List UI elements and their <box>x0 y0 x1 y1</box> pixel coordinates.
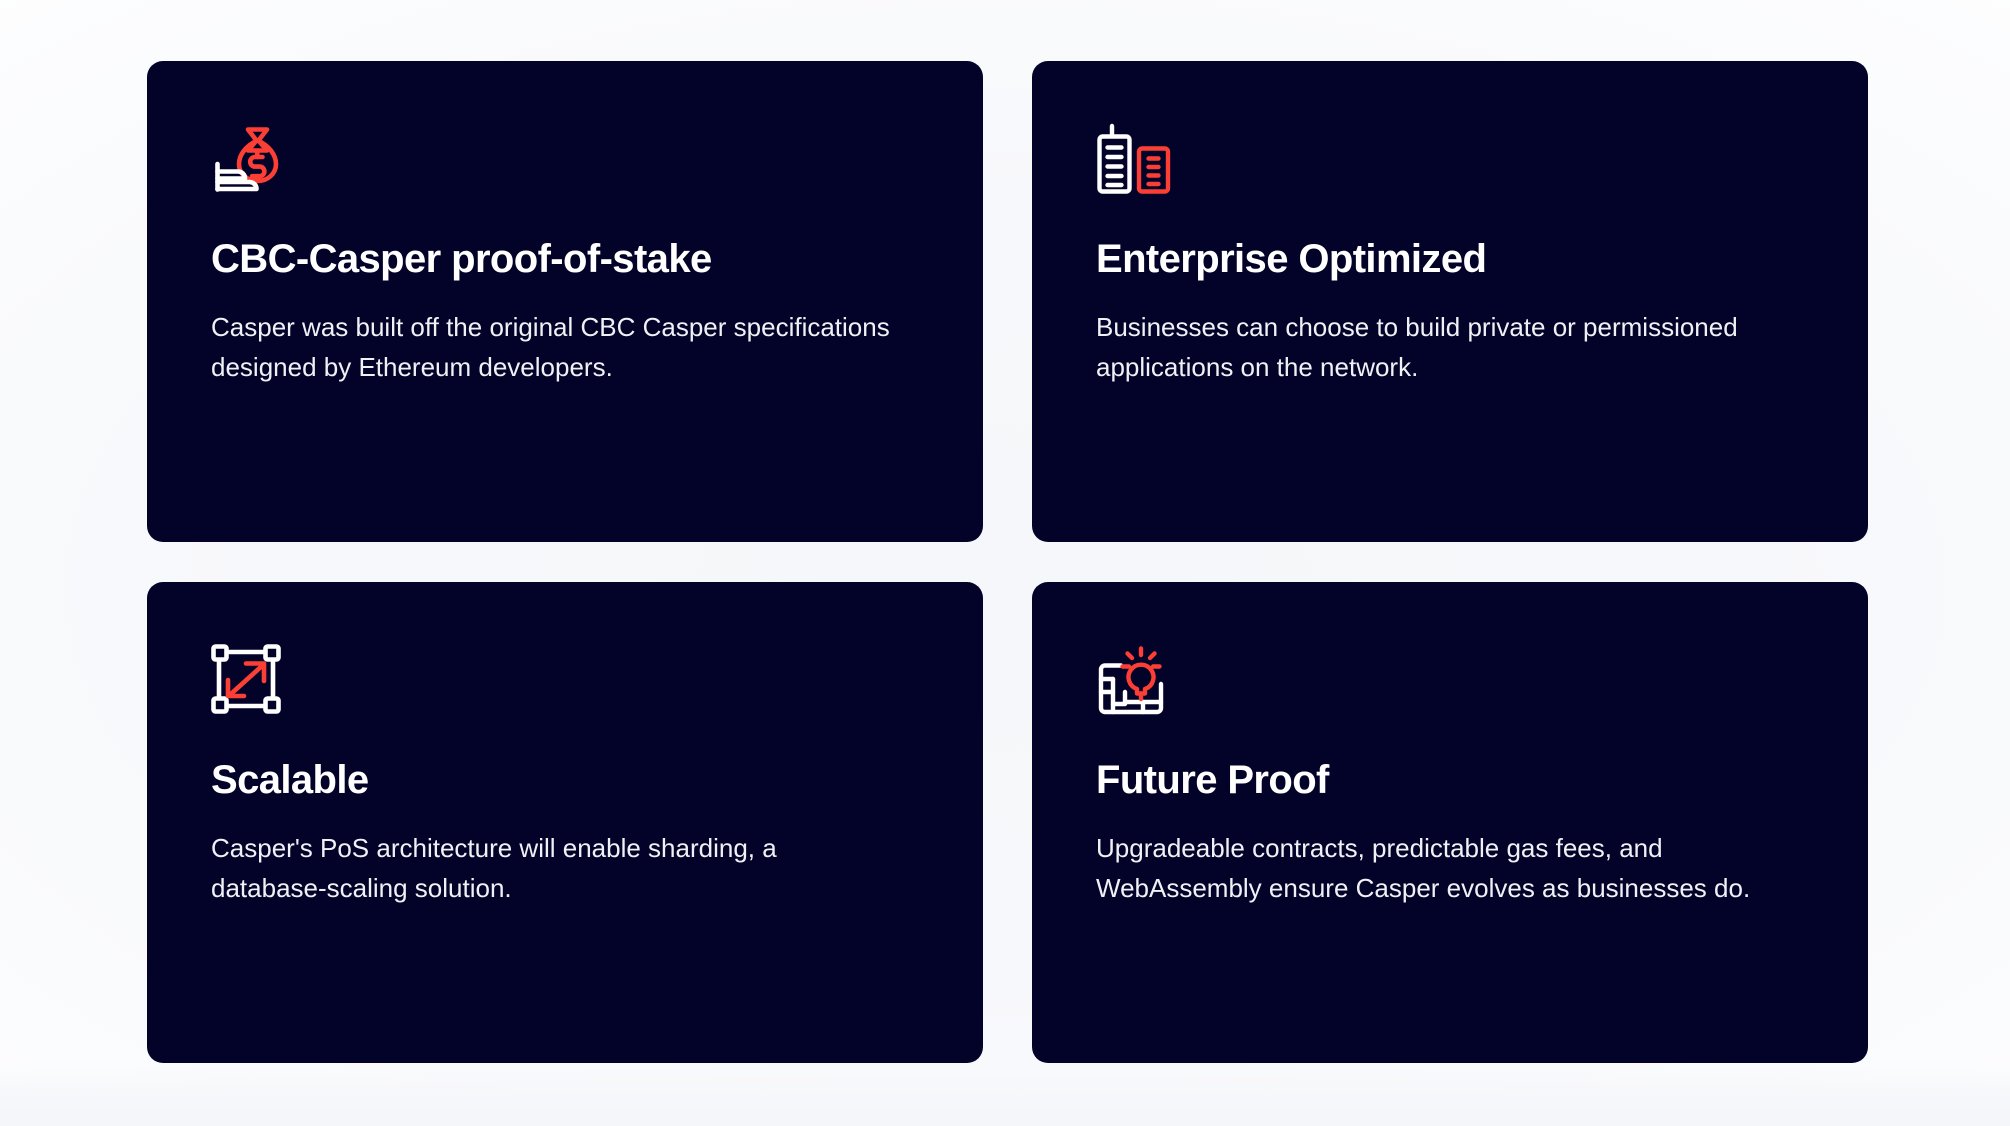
office-buildings-icon <box>1096 123 1174 195</box>
feature-card-body: Upgradeable contracts, predictable gas f… <box>1096 828 1776 909</box>
feature-card-title: Future Proof <box>1096 758 1804 803</box>
feature-card-title: CBC-Casper proof-of-stake <box>211 237 919 282</box>
feature-card-enterprise-optimized[interactable]: Enterprise Optimized Businesses can choo… <box>1032 61 1868 542</box>
feature-card-scalable[interactable]: Scalable Casper's PoS architecture will … <box>147 582 983 1063</box>
lightbulb-circuit-icon <box>1096 644 1174 716</box>
feature-card-body: Businesses can choose to build private o… <box>1096 307 1776 388</box>
feature-card-title: Enterprise Optimized <box>1096 237 1804 282</box>
feature-card-cbc-casper-proof-of-stake[interactable]: CBC-Casper proof-of-stake Casper was bui… <box>147 61 983 542</box>
money-bag-in-hand-icon <box>211 123 289 195</box>
feature-card-future-proof[interactable]: Future Proof Upgradeable contracts, pred… <box>1032 582 1868 1063</box>
feature-card-grid: CBC-Casper proof-of-stake Casper was bui… <box>147 61 1892 1063</box>
feature-card-body: Casper was built off the original CBC Ca… <box>211 307 891 388</box>
scale-expand-arrow-icon <box>211 644 289 716</box>
feature-card-title: Scalable <box>211 758 919 803</box>
feature-card-body: Casper's PoS architecture will enable sh… <box>211 828 891 909</box>
